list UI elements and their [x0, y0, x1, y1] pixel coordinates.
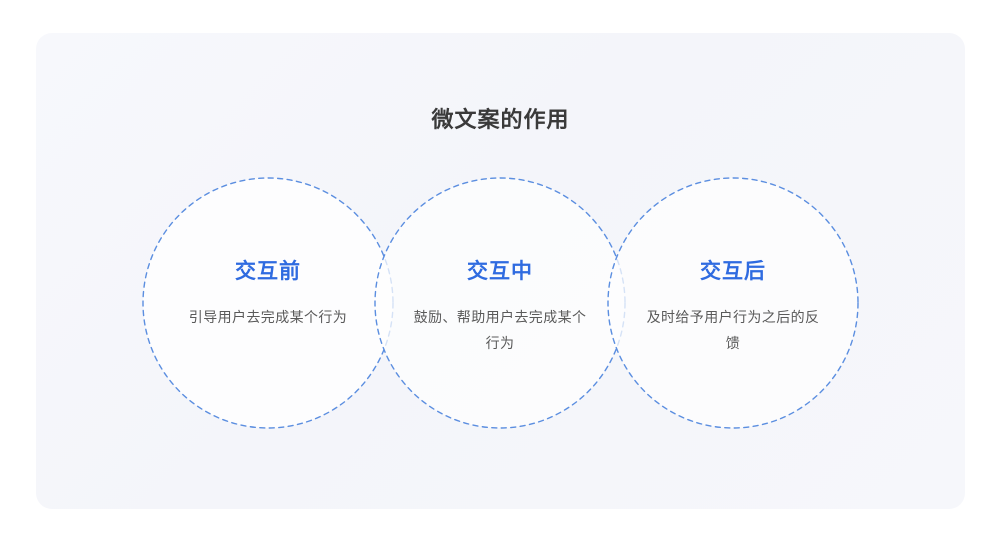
slide-canvas: 微文案的作用 交互前 引导用户去完成某个行为 交互中 鼓励、帮助用户去完成某个行… — [0, 0, 1000, 536]
venn-item-1-description: 引导用户去完成某个行为 — [163, 304, 373, 330]
venn-item-3-heading: 交互后 — [628, 261, 838, 282]
venn-item-2-description: 鼓励、帮助用户去完成某个行为 — [395, 304, 605, 356]
venn-item-3-description: 及时给予用户行为之后的反馈 — [628, 304, 838, 356]
venn-item-1: 交互前 引导用户去完成某个行为 — [163, 261, 373, 330]
venn-item-2-heading: 交互中 — [395, 261, 605, 282]
venn-diagram: 交互前 引导用户去完成某个行为 交互中 鼓励、帮助用户去完成某个行为 交互后 及… — [36, 33, 965, 509]
venn-item-2: 交互中 鼓励、帮助用户去完成某个行为 — [395, 261, 605, 356]
venn-item-1-heading: 交互前 — [163, 261, 373, 282]
content-card: 微文案的作用 交互前 引导用户去完成某个行为 交互中 鼓励、帮助用户去完成某个行… — [36, 33, 965, 509]
venn-item-3: 交互后 及时给予用户行为之后的反馈 — [628, 261, 838, 356]
